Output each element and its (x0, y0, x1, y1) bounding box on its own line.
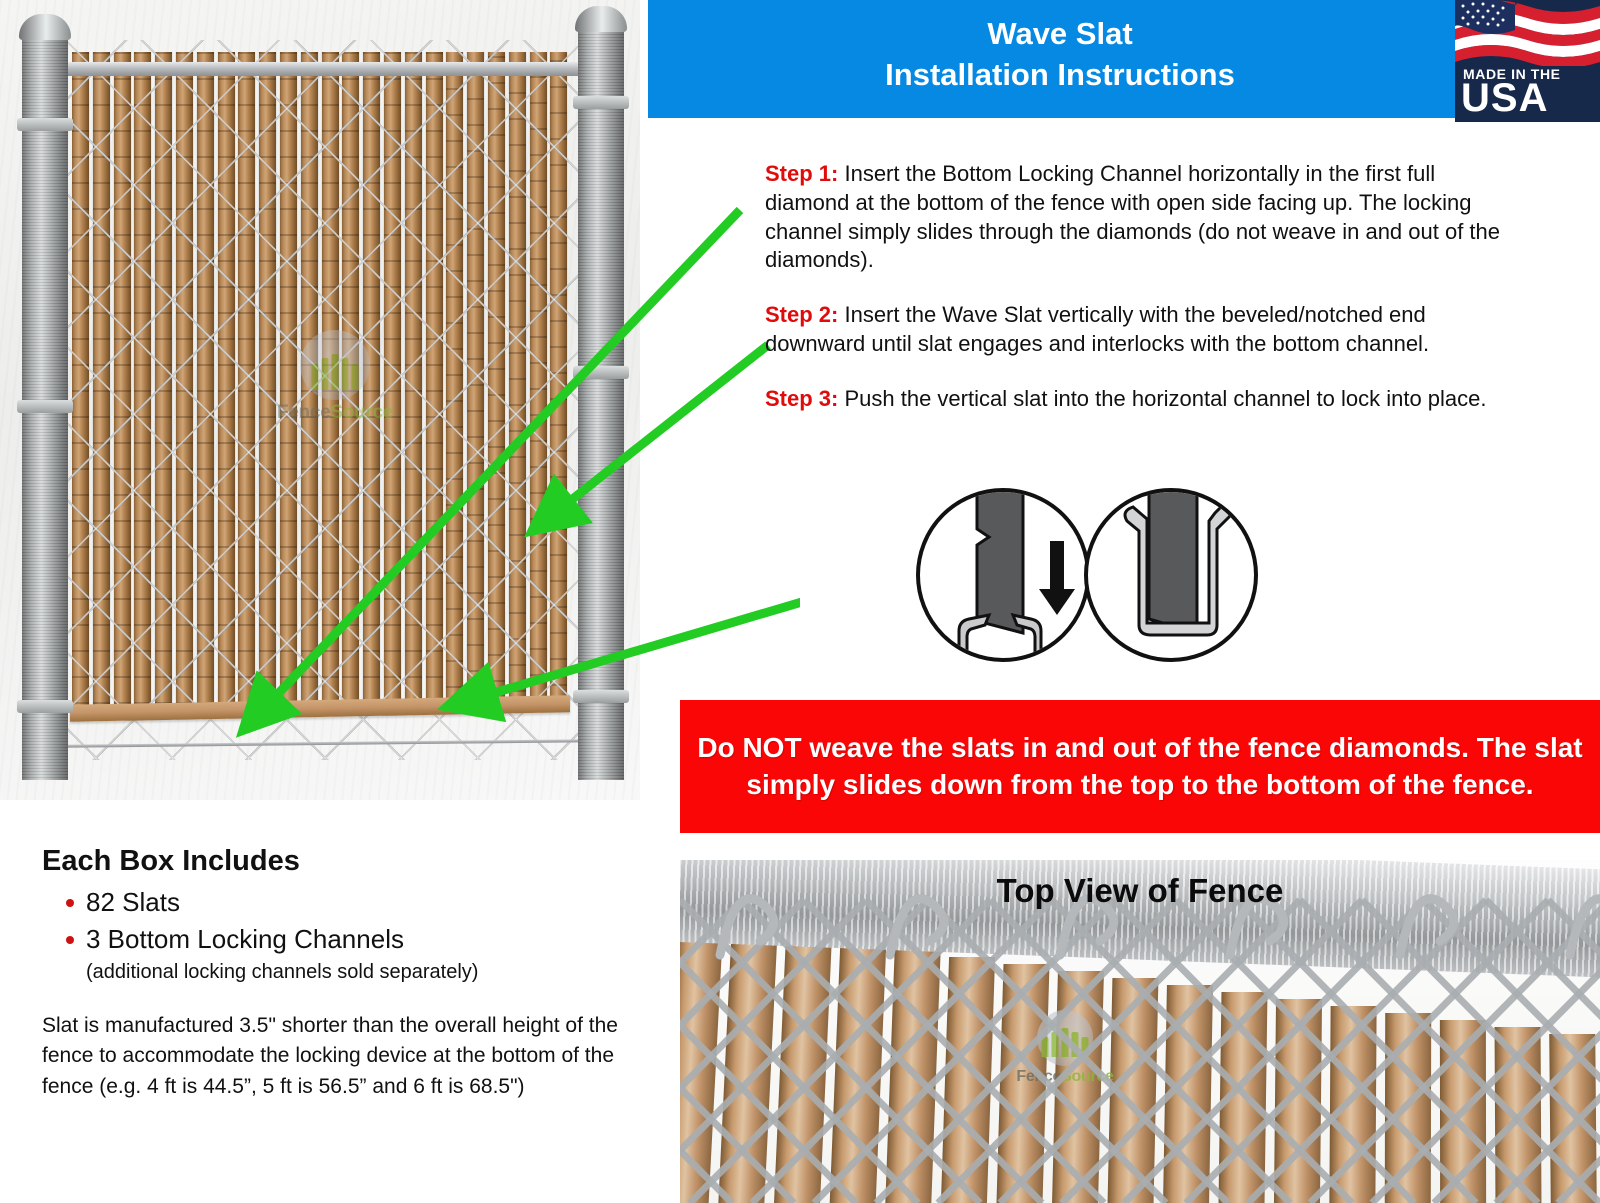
step-2-text: Insert the Wave Slat vertically with the… (765, 302, 1429, 356)
step-1-text: Insert the Bottom Locking Channel horizo… (765, 161, 1500, 272)
box-contents-heading: Each Box Includes (42, 845, 642, 878)
steps-list: Step 1: Insert the Bottom Locking Channe… (765, 160, 1510, 440)
warning-banner: Do NOT weave the slats in and out of the… (680, 700, 1600, 833)
step-3: Step 3: Push the vertical slat into the … (765, 385, 1510, 414)
american-flag-icon (1455, 0, 1600, 66)
detail-locked-slat (1086, 485, 1256, 660)
page-title-line2: Installation Instructions (885, 57, 1235, 92)
box-contents-subnote: (additional locking channels sold separa… (42, 959, 642, 985)
top-view-label: Top View of Fence (680, 872, 1600, 910)
warning-text: Do NOT weave the slats in and out of the… (680, 730, 1600, 803)
box-contents-section: Each Box Includes 82 Slats 3 Bottom Lock… (42, 845, 642, 1102)
detail-insert-slat (918, 485, 1088, 665)
page-title-line1: Wave Slat (987, 16, 1132, 51)
top-view-chain-link-wires (680, 860, 1600, 1203)
step-1-label: Step 1: (765, 161, 838, 186)
step-2: Step 2: Insert the Wave Slat vertically … (765, 301, 1510, 359)
badge-usa-label: USA (1461, 78, 1548, 118)
box-content-item-slats: 82 Slats (66, 884, 642, 921)
step-2-label: Step 2: (765, 302, 838, 327)
slat-height-note: Slat is manufactured 3.5" shorter than t… (42, 1011, 642, 1102)
arrow-to-bottom-channel (272, 210, 740, 700)
arrow-to-slat (565, 345, 768, 505)
arrow-to-lock-point (487, 573, 800, 695)
step-3-label: Step 3: (765, 386, 838, 411)
page-header: Wave Slat Installation Instructions (648, 0, 1600, 118)
box-content-item-channels: 3 Bottom Locking Channels (66, 921, 642, 958)
page-title: Wave Slat Installation Instructions (648, 14, 1472, 96)
callout-arrows (0, 0, 800, 800)
locking-detail-diagrams (915, 485, 1260, 665)
step-1: Step 1: Insert the Bottom Locking Channe… (765, 160, 1510, 275)
box-contents-list: 82 Slats 3 Bottom Locking Channels (42, 884, 642, 958)
step-3-text: Push the vertical slat into the horizont… (838, 386, 1486, 411)
made-in-usa-badge: MADE IN THE USA (1455, 0, 1600, 122)
top-view-photo: Top View of Fence FenceSource (680, 860, 1600, 1203)
